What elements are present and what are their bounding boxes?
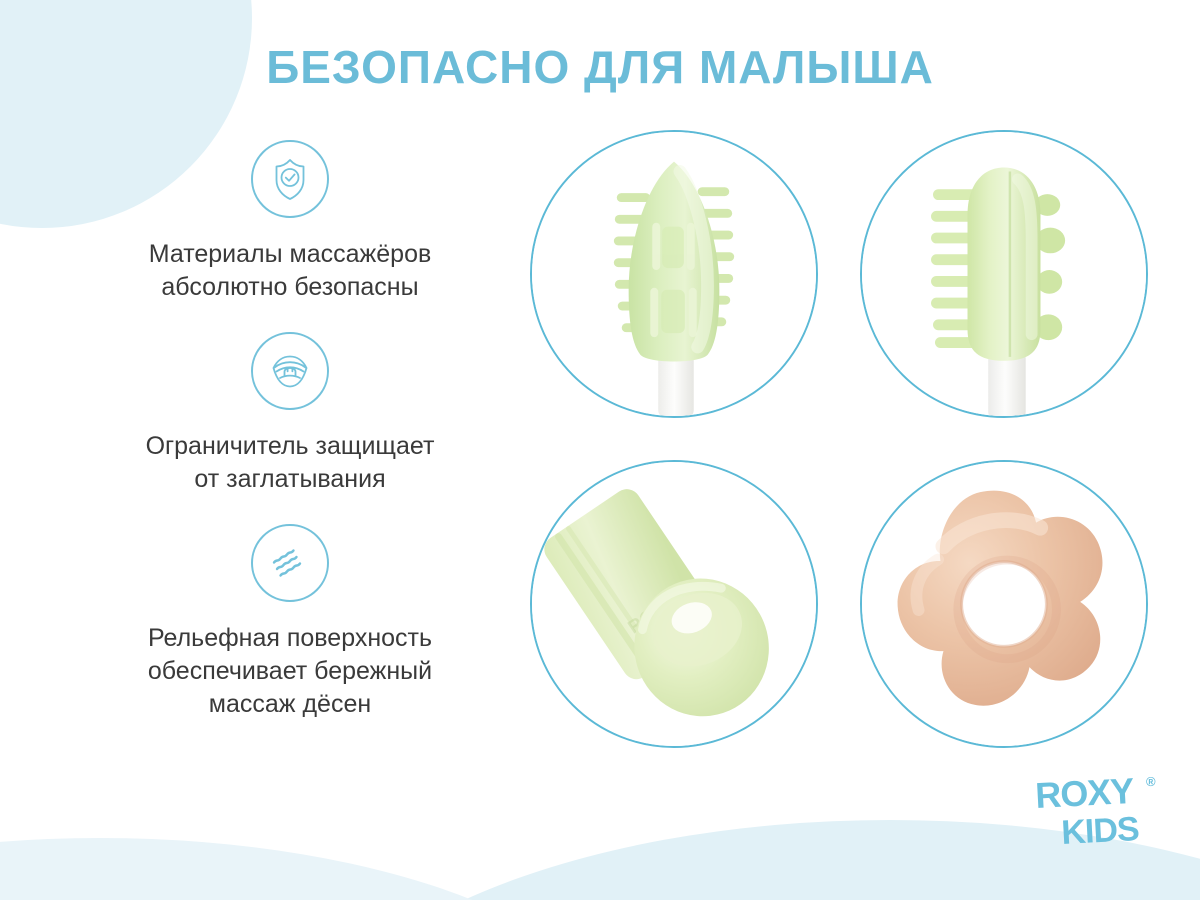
product-photo-massager-brush-head-front bbox=[530, 130, 818, 418]
poster-canvas: БЕЗОПАСНО ДЛЯ МАЛЫША Материалы массажёро… bbox=[0, 0, 1200, 900]
feature-text-swallow-guard: Ограничитель защищает от заглатывания bbox=[146, 430, 435, 496]
product-photo-safety-stopper-flange: ROXY KIDS bbox=[530, 460, 818, 748]
product-photo-flower-teether-ring bbox=[860, 460, 1148, 748]
wavy-texture-icon bbox=[251, 524, 329, 602]
svg-text:KIDS: KIDS bbox=[1060, 810, 1139, 852]
feature-line: Ограничитель защищает bbox=[146, 430, 435, 463]
feature-line: Рельефная поверхность bbox=[148, 622, 432, 655]
feature-line: обеспечивает бережный bbox=[148, 655, 432, 688]
brand-logo-roxy-kids: ROXY KIDS ® bbox=[1034, 774, 1164, 852]
svg-text:®: ® bbox=[1146, 774, 1156, 789]
product-photo-massager-brush-head-side bbox=[860, 130, 1148, 418]
shield-check-icon bbox=[251, 140, 329, 218]
open-mouth-icon bbox=[251, 332, 329, 410]
page-title: БЕЗОПАСНО ДЛЯ МАЛЫША bbox=[0, 40, 1200, 94]
feature-text-safe-materials: Материалы массажёров абсолютно безопасны bbox=[149, 238, 432, 304]
svg-text:ROXY: ROXY bbox=[1034, 774, 1135, 816]
feature-line: массаж дёсен bbox=[148, 688, 432, 721]
feature-list: Материалы массажёров абсолютно безопасны… bbox=[60, 140, 520, 749]
feature-item-safe-materials: Материалы массажёров абсолютно безопасны bbox=[60, 140, 520, 304]
product-photo-grid: ROXY KIDS bbox=[530, 130, 1170, 780]
feature-line: Материалы массажёров bbox=[149, 238, 432, 271]
feature-line: от заглатывания bbox=[146, 463, 435, 496]
feature-item-swallow-guard: Ограничитель защищает от заглатывания bbox=[60, 332, 520, 496]
feature-line: абсолютно безопасны bbox=[149, 271, 432, 304]
feature-text-relief-surface: Рельефная поверхность обеспечивает береж… bbox=[148, 622, 432, 721]
feature-item-relief-surface: Рельефная поверхность обеспечивает береж… bbox=[60, 524, 520, 721]
